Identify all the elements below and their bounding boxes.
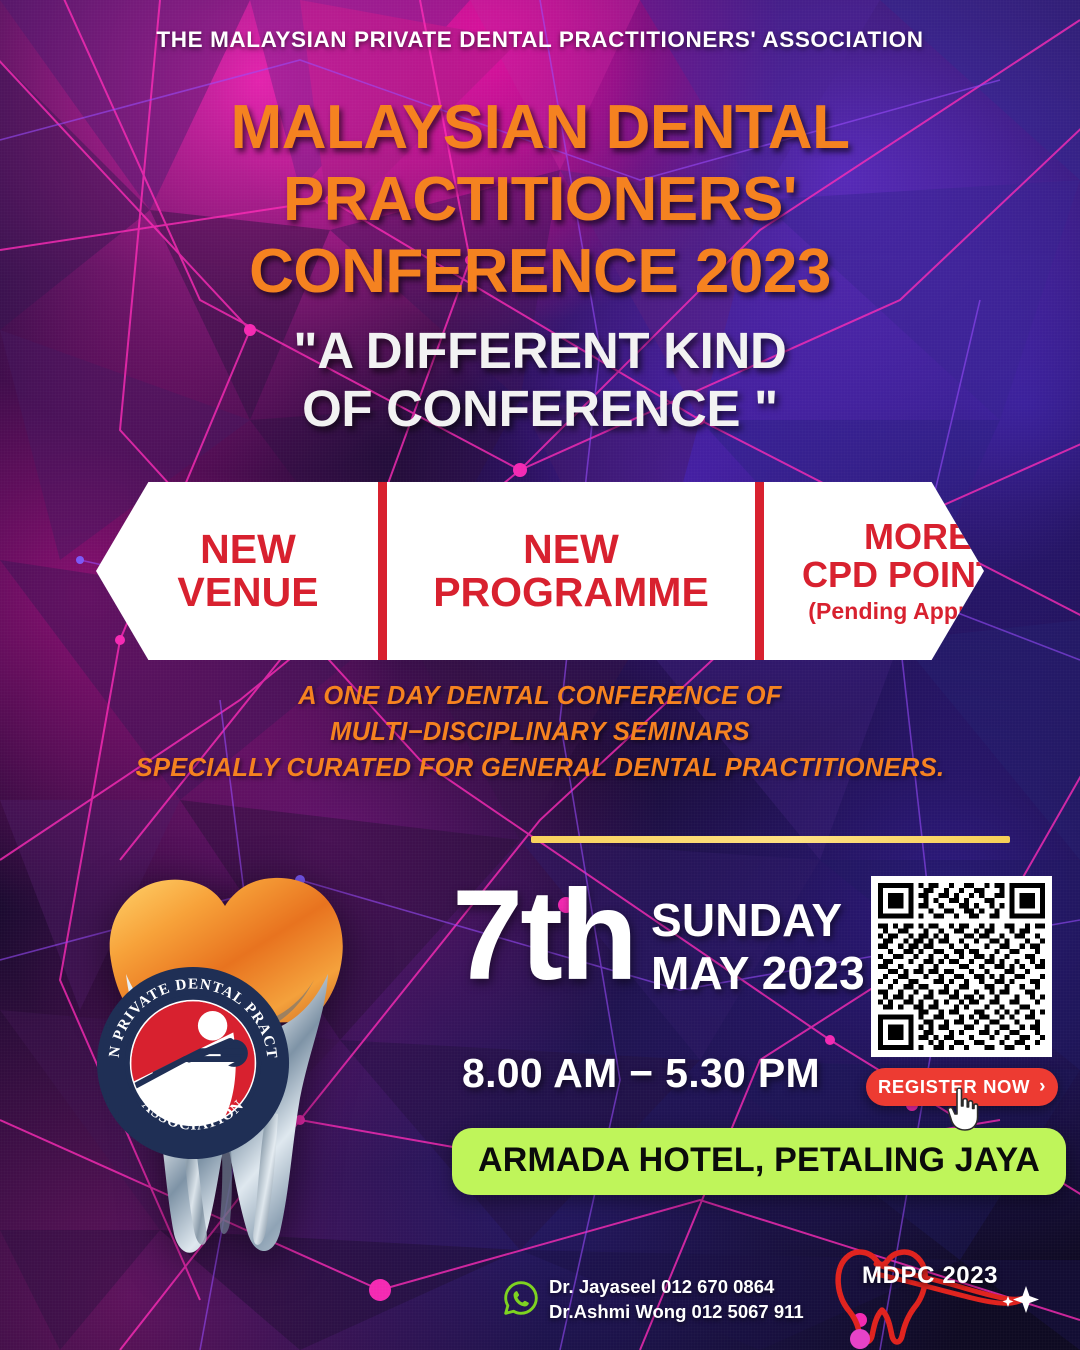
cpd-line-1: MORE	[864, 518, 972, 556]
contact-line-2: Dr.Ashmi Wong 012 5067 911	[549, 1299, 804, 1324]
whatsapp-icon	[503, 1280, 539, 1316]
event-weekday: SUNDAY	[651, 894, 865, 947]
description-line-3: SPECIALLY CURATED FOR GENERAL DENTAL PRA…	[0, 750, 1080, 786]
banner-divider-2	[755, 482, 764, 660]
gold-divider-rule	[531, 836, 1010, 843]
title-line-3: CONFERENCE 2023	[0, 236, 1080, 308]
registration-qr-code[interactable]	[871, 876, 1052, 1057]
contact-numbers: Dr. Jayaseel 012 670 0864 Dr.Ashmi Wong …	[549, 1274, 804, 1324]
association-name: THE MALAYSIAN PRIVATE DENTAL PRACTITIONE…	[0, 27, 1080, 53]
page-title: MALAYSIAN DENTAL PRACTITIONERS' CONFEREN…	[0, 92, 1080, 308]
tagline-line-2: OF CONFERENCE "	[0, 380, 1080, 438]
highlights-banner: NEW VENUE NEW PROGRAMME MORE CPD POINTS!…	[96, 482, 984, 660]
event-date-detail: SUNDAY MAY 2023	[651, 894, 865, 1000]
hand-cursor-icon	[944, 1086, 982, 1132]
highlight-new-programme: NEW PROGRAMME	[401, 482, 741, 660]
title-line-2: PRACTITIONERS'	[0, 164, 1080, 236]
event-venue-badge: ARMADA HOTEL, PETALING JAYA	[452, 1128, 1066, 1195]
conference-description: A ONE DAY DENTAL CONFERENCE OF MULTI−DIS…	[0, 678, 1080, 786]
description-line-2: MULTI−DISCIPLINARY SEMINARS	[0, 714, 1080, 750]
conference-poster: THE MALAYSIAN PRIVATE DENTAL PRACTITIONE…	[0, 0, 1080, 1350]
contact-line-1: Dr. Jayaseel 012 670 0864	[549, 1274, 804, 1299]
highlight-new-venue: NEW VENUE	[96, 482, 364, 660]
qr-code-icon	[878, 883, 1045, 1050]
new-venue-line-2: VENUE	[177, 571, 318, 614]
mdpc-tooth-mark	[812, 1240, 1052, 1350]
title-line-1: MALAYSIAN DENTAL	[0, 92, 1080, 164]
conference-tagline: "A DIFFERENT KIND OF CONFERENCE "	[0, 322, 1080, 438]
event-time: 8.00 AM − 5.30 PM	[462, 1050, 820, 1097]
new-venue-line-1: NEW	[200, 528, 296, 571]
chevron-right-icon: ›	[1039, 1076, 1046, 1098]
tagline-line-1: "A DIFFERENT KIND	[0, 322, 1080, 380]
event-month-year: MAY 2023	[651, 947, 865, 1000]
mpdpa-association-logo: MALAYSIAN PRIVATE DENTAL PRACTITIONERS' …	[95, 965, 291, 1161]
event-date-block: 7th SUNDAY MAY 2023	[452, 880, 865, 1000]
mdpc-label: MDPC 2023	[862, 1262, 998, 1290]
new-programme-line-1: NEW	[523, 528, 619, 571]
description-line-1: A ONE DAY DENTAL CONFERENCE OF	[0, 678, 1080, 714]
new-programme-line-2: PROGRAMME	[433, 571, 709, 614]
banner-divider-1	[378, 482, 387, 660]
event-day: 7th	[452, 880, 635, 992]
